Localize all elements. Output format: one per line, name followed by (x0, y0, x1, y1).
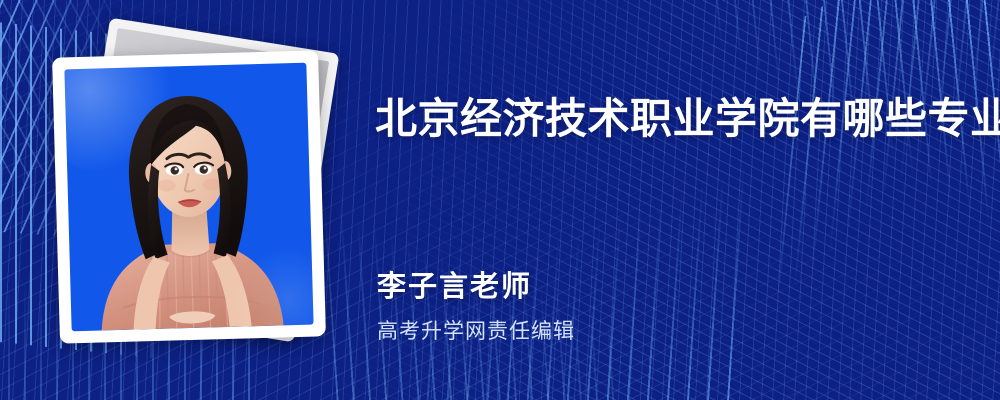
author-name: 李子言老师 (377, 270, 532, 304)
portrait-photo (64, 63, 313, 332)
decor-top-right-chevron-secondary (777, 0, 1000, 293)
author-role: 高考升学网责任编辑 (377, 319, 575, 345)
portrait-illustration (64, 63, 313, 332)
photo-stack (50, 28, 350, 358)
page-title: 北京经济技术职业学院有哪些专业 (375, 94, 975, 144)
article-header-banner: 北京经济技术职业学院有哪些专业 李子言老师 高考升学网责任编辑 (0, 0, 1000, 400)
front-photo-frame (52, 50, 326, 343)
